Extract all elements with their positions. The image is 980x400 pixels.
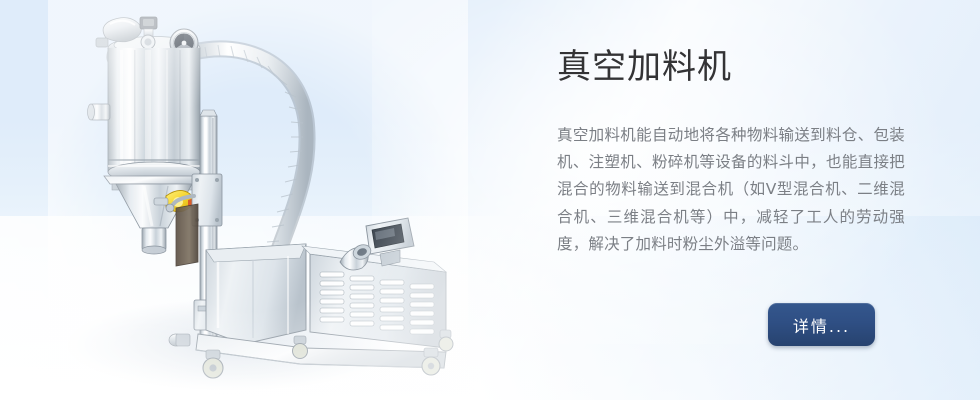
product-banner: 真空加料机 真空加料机能自动地将各种物料输送到料仓、包装机、注塑机、粉碎机等设备…	[0, 0, 980, 400]
vacuum-feeder-illustration	[48, 0, 468, 400]
side-outlet	[88, 104, 111, 120]
louvered-enclosure	[302, 246, 446, 348]
headline-wrapper: 真空加料机	[557, 44, 907, 90]
page-title: 真空加料机	[557, 44, 907, 90]
product-image	[48, 0, 468, 400]
details-button[interactable]: 详情...	[768, 303, 875, 346]
motor-stub	[169, 334, 190, 346]
open-trough	[206, 244, 306, 344]
product-description: 真空加料机能自动地将各种物料输送到料仓、包装机、注塑机、粉碎机等设备的料斗中，也…	[557, 122, 905, 258]
lid-valve-stack	[140, 17, 157, 49]
